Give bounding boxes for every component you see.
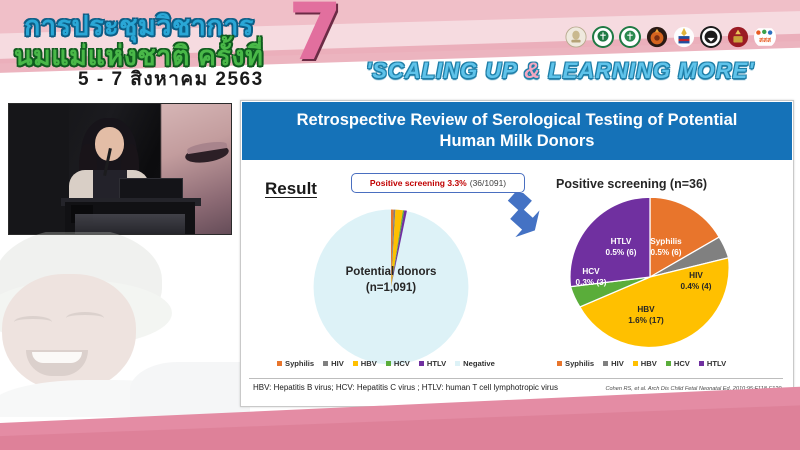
video-wall [9, 104, 69, 234]
legend-positive-screening: Syphilis HIV HBV HCV HTLV [557, 359, 726, 368]
potential-donors-label-line2: (n=1,091) [303, 281, 479, 297]
tagline-part1: 'SCALING UP [366, 58, 524, 83]
positive-screening-pie-chart: Syphilis 0.5% (6) HIV 0.4% (4) HBV 1.6% … [566, 193, 734, 361]
positive-screening-chart-title: Positive screening (n=36) [556, 177, 786, 191]
legend-potential-donors: Syphilis HIV HBV HCV HTLV Negative [277, 359, 495, 368]
legend-item: HCV [386, 359, 410, 368]
legend-label-htlv: HTLV [707, 359, 726, 368]
legend-swatch-negative [455, 361, 460, 366]
callout-fraction: (36/1091) [470, 178, 506, 188]
svg-text:สสส: สสส [759, 36, 772, 44]
legend-swatch-hiv [603, 361, 608, 366]
legend-item: HCV [666, 359, 690, 368]
conference-edition-number: 7 [288, 0, 342, 72]
logo-red-garuda-icon [727, 26, 749, 48]
logo-royal-seal-icon [565, 26, 587, 48]
legend-swatch-htlv [419, 361, 424, 366]
slide-video-stage: การประชุมวิชาการ นมแม่แห่งชาติ ครั้งที่ … [0, 0, 800, 450]
conference-date: 5 - 7 สิงหาคม 2563 [78, 64, 264, 94]
legend-item: HIV [603, 359, 624, 368]
legend-label-hbv: HBV [361, 359, 377, 368]
legend-swatch-hiv [323, 361, 328, 366]
speaker-video-panel[interactable] [8, 103, 232, 235]
legend-item: HBV [353, 359, 377, 368]
legend-label-htlv: HTLV [427, 359, 446, 368]
child-teeth [32, 352, 82, 363]
pie-slice-htlv [570, 197, 650, 286]
result-heading: Result [265, 179, 317, 199]
tagline-part2: LEARNING MORE' [541, 58, 754, 83]
podium-glass [75, 214, 185, 234]
legend-swatch-syphilis [557, 361, 562, 366]
child-eye-right [66, 312, 104, 324]
legend-swatch-syphilis [277, 361, 282, 366]
sponsor-logo-row: สสส [565, 26, 776, 48]
logo-crown-orange-icon [646, 26, 668, 48]
legend-swatch-hcv [386, 361, 391, 366]
legend-label-syphilis: Syphilis [565, 359, 594, 368]
conference-header-banner: การประชุมวิชาการ นมแม่แห่งชาติ ครั้งที่ … [0, 0, 800, 95]
legend-swatch-htlv [699, 361, 704, 366]
child-shoulder [130, 362, 250, 417]
logo-thai-emblem-icon [673, 26, 695, 48]
potential-donors-pie-chart: Potential donors (n=1,091) [303, 199, 479, 375]
legend-item: Syphilis [277, 359, 314, 368]
logo-green-medical-1-icon [592, 26, 614, 48]
arrow-right-down-icon [496, 193, 544, 241]
callout-headline: Positive screening 3.3% [370, 178, 467, 188]
presentation-slide[interactable]: Retrospective Review of Serological Test… [240, 100, 794, 407]
logo-black-circle-icon [700, 26, 722, 48]
child-eye-left [14, 316, 52, 328]
legend-swatch-hbv [633, 361, 638, 366]
logo-thaihealth-icon: สสส [754, 26, 776, 48]
legend-item: HTLV [699, 359, 726, 368]
tagline-ampersand: & [524, 58, 541, 83]
legend-swatch-hcv [666, 361, 671, 366]
decorative-child-photo [0, 232, 250, 417]
potential-donors-center-label: Potential donors (n=1,091) [303, 265, 479, 296]
positive-screening-callout: Positive screening 3.3% (36/1091) [351, 173, 525, 193]
logo-green-medical-2-icon [619, 26, 641, 48]
legend-item: HTLV [419, 359, 446, 368]
legend-swatch-hbv [353, 361, 358, 366]
footnote-divider [249, 378, 783, 379]
positive-screening-pie-svg [566, 193, 734, 361]
potential-donors-label-line1: Potential donors [303, 265, 479, 281]
legend-label-hiv: HIV [331, 359, 344, 368]
slide-title-text: Retrospective Review of Serological Test… [242, 110, 792, 152]
legend-label-hbv: HBV [641, 359, 657, 368]
legend-item: HBV [633, 359, 657, 368]
legend-item: Negative [455, 359, 495, 368]
legend-item: Syphilis [557, 359, 594, 368]
legend-label-hiv: HIV [611, 359, 624, 368]
legend-item: HIV [323, 359, 344, 368]
footnote-abbreviations: HBV: Hepatitis B virus; HCV: Hepatitis C… [253, 383, 558, 392]
legend-label-hcv: HCV [394, 359, 410, 368]
legend-label-negative: Negative [463, 359, 495, 368]
slide-title-bar: Retrospective Review of Serological Test… [242, 102, 792, 160]
conference-tagline: 'SCALING UP & LEARNING MORE' [366, 58, 754, 84]
legend-label-hcv: HCV [674, 359, 690, 368]
legend-label-syphilis: Syphilis [285, 359, 314, 368]
